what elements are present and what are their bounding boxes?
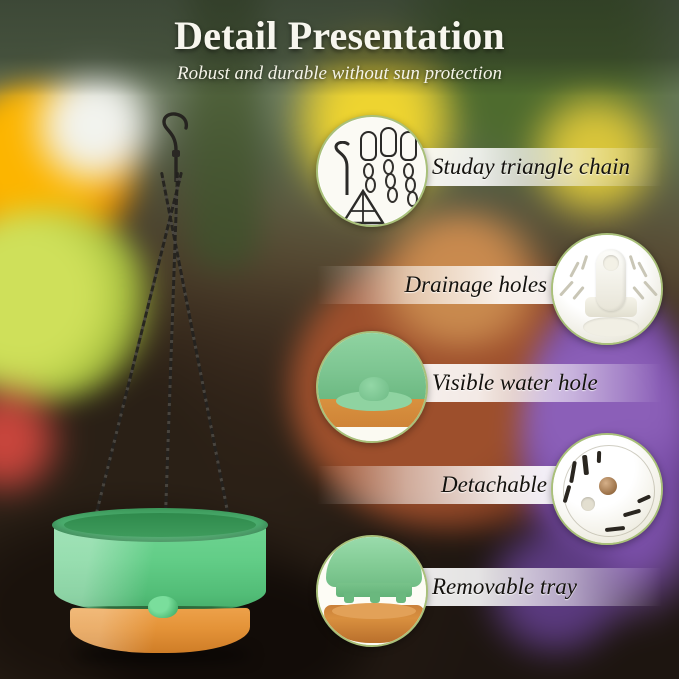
detachable-base-icon bbox=[551, 433, 663, 545]
hanging-planter-product bbox=[30, 110, 290, 655]
water-level-indicator bbox=[148, 596, 178, 618]
hook-glyph bbox=[330, 141, 364, 195]
removable-tray-icon bbox=[316, 535, 428, 647]
page-title: Detail Presentation bbox=[0, 12, 679, 59]
triangle-ring-glyph bbox=[338, 189, 388, 227]
chain-icon bbox=[316, 115, 428, 227]
detail-presentation-image: Detail Presentation Robust and durable w… bbox=[0, 0, 679, 679]
feature-row-chain: Studay triangle chain bbox=[300, 112, 679, 230]
feature-row-water-hole: Visible water hole bbox=[300, 328, 679, 446]
feature-row-detachable: Detachable bbox=[300, 430, 679, 548]
planter-pot bbox=[52, 508, 268, 653]
water-hole-icon bbox=[316, 331, 428, 443]
header-banner: Detail Presentation Robust and durable w… bbox=[0, 0, 679, 96]
feature-row-tray: Removable tray bbox=[300, 532, 679, 650]
feature-callout-list: Studay triangle chain bbox=[300, 100, 679, 679]
page-subtitle: Robust and durable without sun protectio… bbox=[0, 63, 679, 85]
